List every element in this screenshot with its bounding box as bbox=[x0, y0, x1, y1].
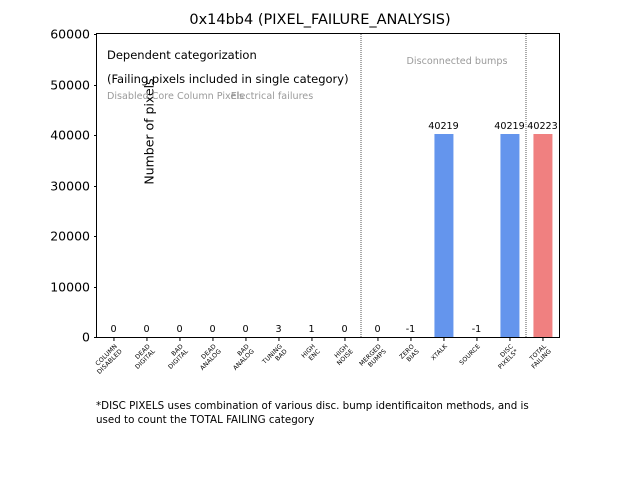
x-axis-tick-mark bbox=[443, 337, 444, 341]
x-axis-tick-label: TUNINGBAD bbox=[261, 343, 289, 371]
bar-value-label: 40219 bbox=[494, 121, 525, 132]
x-axis-tick-mark bbox=[113, 337, 114, 341]
x-axis-tick-mark bbox=[212, 337, 213, 341]
annotation-group-electrical-failures: Electrical failures bbox=[192, 91, 352, 103]
bar-value-label: 40223 bbox=[527, 121, 558, 132]
y-axis-tick-mark bbox=[94, 236, 98, 237]
annotation-group-disabled-core-line-1: Disabled Core bbox=[107, 91, 174, 102]
bar-value-label: 0 bbox=[341, 324, 347, 335]
x-axis-tick-label: COLUMNDISABLED bbox=[91, 343, 124, 376]
x-axis-tick-label: MERGEDBUMPS bbox=[358, 343, 388, 373]
x-axis-tick-mark bbox=[278, 337, 279, 341]
x-axis-tick-label: DEADANALOG bbox=[193, 343, 222, 372]
x-axis-tick-label: HIGHENC bbox=[300, 343, 322, 365]
y-axis-tick-mark bbox=[94, 135, 98, 136]
chart-title: 0x14bb4 (PIXEL_FAILURE_ANALYSIS) bbox=[0, 12, 640, 28]
x-axis-tick-label: BADDIGITAL bbox=[162, 343, 190, 371]
annotation-group-disconnected-bumps-line-2: bumps bbox=[475, 56, 508, 67]
y-axis-tick-label: 60000 bbox=[50, 27, 90, 42]
bar-value-label: -1 bbox=[472, 324, 482, 335]
footnote-line-1: *DISC PIXELS uses combination of various… bbox=[96, 400, 636, 414]
x-axis-tick-mark bbox=[344, 337, 345, 341]
annotation-group-electrical-failures-line-1: Electrical failures bbox=[231, 91, 313, 102]
x-axis-tick-label: XTALK bbox=[429, 343, 448, 362]
y-axis-tick-label: 30000 bbox=[50, 178, 90, 193]
bar-value-label: 0 bbox=[110, 324, 116, 335]
x-axis-tick-mark bbox=[179, 337, 180, 341]
x-axis-tick-label: DISCPIXELS* bbox=[492, 343, 520, 371]
x-axis-tick-label: DEADDIGITAL bbox=[129, 343, 157, 371]
y-axis-tick-mark bbox=[94, 85, 98, 86]
annotation-group-disconnected-bumps-line-1: Disconnected bbox=[407, 56, 472, 67]
y-axis-tick-label: 0 bbox=[82, 330, 90, 345]
x-axis-tick-mark bbox=[476, 337, 477, 341]
plot-area: Number of pixels 01000020000300004000050… bbox=[96, 33, 560, 338]
x-axis-tick-mark bbox=[311, 337, 312, 341]
bar bbox=[500, 134, 519, 337]
x-axis-tick-mark bbox=[542, 337, 543, 341]
x-axis-tick-mark bbox=[410, 337, 411, 341]
annotation-group-disconnected-bumps: Disconnected bumps bbox=[387, 56, 527, 68]
y-axis-tick-mark bbox=[94, 287, 98, 288]
bar bbox=[434, 134, 453, 337]
x-axis-tick-label: SOURCE bbox=[458, 343, 482, 367]
x-axis-tick-mark bbox=[509, 337, 510, 341]
category-divider bbox=[526, 34, 527, 337]
annotation-header-line-1: Dependent categorization bbox=[107, 48, 257, 62]
y-axis-tick-mark bbox=[94, 34, 98, 35]
y-axis-tick-label: 20000 bbox=[50, 229, 90, 244]
bar-value-label: 0 bbox=[374, 324, 380, 335]
y-axis-tick-label: 10000 bbox=[50, 279, 90, 294]
x-axis-tick-mark bbox=[377, 337, 378, 341]
footnote-line-2: used to count the TOTAL FAILING category bbox=[96, 414, 636, 428]
bar-value-label: -1 bbox=[406, 324, 416, 335]
x-axis-tick-label-line: XTALK bbox=[429, 343, 448, 362]
x-axis-tick-label: ZEROBIAS bbox=[398, 343, 421, 366]
y-axis-tick-label: 50000 bbox=[50, 77, 90, 92]
footnote: *DISC PIXELS uses combination of various… bbox=[96, 400, 636, 427]
x-axis-tick-label: TOTALFAILING bbox=[525, 343, 553, 371]
bar-value-label: 0 bbox=[209, 324, 215, 335]
y-axis-tick-label: 40000 bbox=[50, 128, 90, 143]
annotation-header-line-2: (Failing pixels included in single categ… bbox=[107, 72, 349, 86]
chart-figure: 0x14bb4 (PIXEL_FAILURE_ANALYSIS) Number … bbox=[0, 0, 640, 480]
y-axis-label: Number of pixels bbox=[142, 42, 157, 222]
bar-value-label: 0 bbox=[143, 324, 149, 335]
x-axis-tick-mark bbox=[245, 337, 246, 341]
x-axis-tick-mark bbox=[146, 337, 147, 341]
x-axis-tick-label: HIGHNOISE bbox=[330, 343, 355, 368]
x-axis-tick-label-line: SOURCE bbox=[458, 343, 482, 367]
bar-value-label: 0 bbox=[242, 324, 248, 335]
x-axis-tick-label: BADANALOG bbox=[226, 343, 255, 372]
bar bbox=[533, 134, 552, 337]
y-axis-tick-mark bbox=[94, 337, 98, 338]
y-axis-tick-mark bbox=[94, 186, 98, 187]
category-divider bbox=[361, 34, 362, 337]
bar-value-label: 40219 bbox=[428, 121, 459, 132]
bar-value-label: 1 bbox=[308, 324, 314, 335]
bar-value-label: 0 bbox=[176, 324, 182, 335]
bar-value-label: 3 bbox=[275, 324, 281, 335]
